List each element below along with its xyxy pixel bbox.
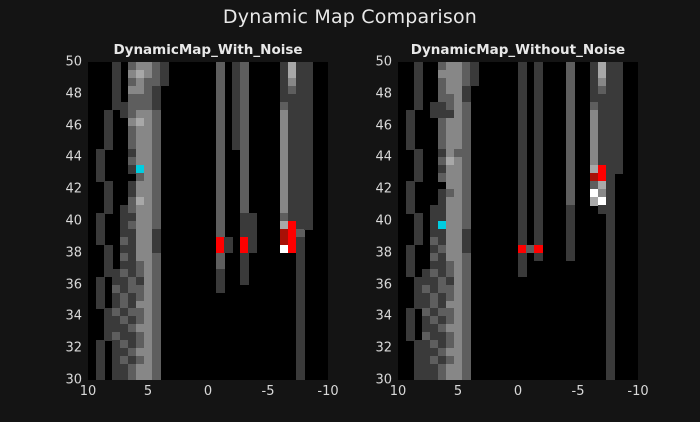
axes-dynamicmap-without-noise[interactable]: DynamicMap_Without_Noise 303234363840424… [398,62,638,380]
heatmap-with-noise[interactable] [88,62,328,380]
y-tick-label: 48 [375,86,392,101]
heatmap-cell [534,253,543,262]
heatmap-cell [462,372,471,380]
y-tick-label: 50 [375,55,392,70]
heatmap-cell [518,269,527,278]
y-tick-label: 32 [375,341,392,356]
y-tick-label: 34 [65,309,82,324]
y-tick-label: 40 [375,214,392,229]
y-tick-label: 46 [65,118,82,133]
heatmap-cell [470,78,479,87]
heatmap-cell [614,165,623,174]
y-tick-label: 44 [375,150,392,165]
y-tick-label: 32 [65,341,82,356]
heatmap-cell [414,237,423,246]
heatmap-cell [414,102,423,111]
y-tick-label: 42 [65,182,82,197]
heatmap-cell [534,237,543,246]
heatmap-cell [534,229,543,238]
x-tick-label: 0 [204,384,212,399]
y-tick-label: 48 [65,86,82,101]
heatmap-cell [152,372,161,380]
heatmap-cell [104,205,113,214]
heatmap-cell [296,372,305,380]
y-tick-label: 40 [65,214,82,229]
y-tick-label: 44 [65,150,82,165]
x-tick-label: 5 [144,384,152,399]
heatmap-without-noise[interactable] [398,62,638,380]
y-tick-label: 36 [65,277,82,292]
heatmap-cell [566,253,575,262]
y-tick-label: 42 [375,182,392,197]
x-tick-label: 0 [514,384,522,399]
heatmap-cell [606,372,615,380]
heatmap-cell [160,78,169,87]
y-tick-label: 38 [65,245,82,260]
x-tick-label: 5 [454,384,462,399]
heatmap-cell [224,245,233,254]
y-tick-label: 46 [375,118,392,133]
x-tick-label: 10 [390,384,407,399]
heatmap-cell [304,221,313,230]
figure-suptitle: Dynamic Map Comparison [0,6,700,28]
axes-title-with-noise: DynamicMap_With_Noise [88,42,328,58]
x-tick-label: -5 [262,384,275,399]
y-tick-label: 38 [375,245,392,260]
heatmap-cell [96,372,105,380]
heatmap-cell [104,142,113,151]
heatmap-cell [240,277,249,286]
y-tick-label: 34 [375,309,392,324]
x-tick-label: -10 [627,384,648,399]
x-tick-label: -10 [317,384,338,399]
y-tick-label: 50 [65,55,82,70]
figure-canvas: Dynamic Map Comparison DynamicMap_With_N… [0,0,700,422]
heatmap-cell [248,245,257,254]
y-tick-label: 36 [375,277,392,292]
axes-dynamicmap-with-noise[interactable]: DynamicMap_With_Noise 303234363840424446… [88,62,328,380]
heatmap-cell [414,173,423,182]
x-tick-label: -5 [572,384,585,399]
axes-title-without-noise: DynamicMap_Without_Noise [398,42,638,58]
x-tick-label: 10 [80,384,97,399]
heatmap-cell [216,285,225,294]
